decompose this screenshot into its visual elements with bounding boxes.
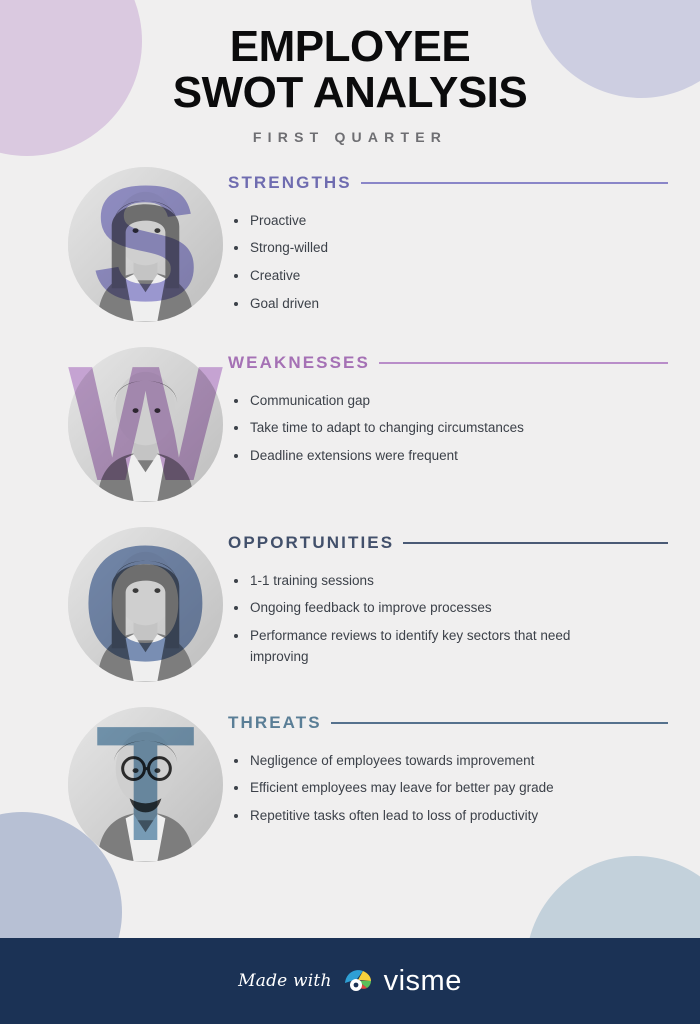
visme-mark-icon	[343, 966, 377, 997]
list-item: Negligence of employees towards improvem…	[228, 751, 603, 772]
list-item: Goal driven	[228, 294, 603, 315]
section-heading-row-weaknesses: WEAKNESSES	[228, 353, 668, 373]
list-item: Efficient employees may leave for better…	[228, 778, 603, 799]
list-item: Take time to adapt to changing circumsta…	[228, 418, 603, 439]
bullet-list-weaknesses: Communication gapTake time to adapt to c…	[228, 391, 668, 468]
list-item: Creative	[228, 266, 603, 287]
poster-header: EMPLOYEE SWOT ANALYSIS FIRST QUARTER	[0, 0, 700, 145]
section-heading-row-opportunities: OPPORTUNITIES	[228, 533, 668, 553]
swot-section-threats: TTHREATSNegligence of employees towards …	[0, 707, 700, 887]
title-line-2: SWOT ANALYSIS	[0, 70, 700, 116]
section-heading-row-strengths: STRENGTHS	[228, 173, 668, 193]
list-item: Communication gap	[228, 391, 603, 412]
section-body-opportunities: OPPORTUNITIES1-1 training sessionsOngoin…	[228, 527, 700, 676]
portrait-photo-strengths	[68, 167, 223, 322]
section-rule-weaknesses	[379, 362, 668, 364]
list-item: Ongoing feedback to improve processes	[228, 598, 603, 619]
list-item: Proactive	[228, 211, 603, 232]
bullet-list-strengths: ProactiveStrong-willedCreativeGoal drive…	[228, 211, 668, 316]
swot-section-opportunities: OOPPORTUNITIES1-1 training sessionsOngoi…	[0, 527, 700, 707]
list-item: Deadline extensions were frequent	[228, 446, 603, 467]
list-item: Performance reviews to identify key sect…	[228, 626, 603, 668]
section-heading-strengths: STRENGTHS	[228, 173, 352, 193]
title-line-1: EMPLOYEE	[0, 24, 700, 70]
list-item: Strong-willed	[228, 238, 603, 259]
section-heading-row-threats: THREATS	[228, 713, 668, 733]
swot-poster: EMPLOYEE SWOT ANALYSIS FIRST QUARTER SST…	[0, 0, 700, 1024]
poster-footer: Made with visme	[0, 938, 700, 1024]
list-item: Repetitive tasks often lead to loss of p…	[228, 806, 603, 827]
photo-wrap-strengths: S	[0, 167, 228, 347]
swot-section-strengths: SSTRENGTHSProactiveStrong-willedCreative…	[0, 167, 700, 347]
swot-section-weaknesses: WWEAKNESSESCommunication gapTake time to…	[0, 347, 700, 527]
portrait-photo-opportunities	[68, 527, 223, 682]
section-body-strengths: STRENGTHSProactiveStrong-willedCreativeG…	[228, 167, 700, 323]
bullet-list-threats: Negligence of employees towards improvem…	[228, 751, 668, 828]
photo-wrap-weaknesses: W	[0, 347, 228, 527]
page-subtitle: FIRST QUARTER	[0, 129, 700, 145]
section-heading-threats: THREATS	[228, 713, 322, 733]
section-heading-opportunities: OPPORTUNITIES	[228, 533, 394, 553]
section-body-threats: THREATSNegligence of employees towards i…	[228, 707, 700, 835]
swot-sections: SSTRENGTHSProactiveStrong-willedCreative…	[0, 167, 700, 887]
bullet-list-opportunities: 1-1 training sessionsOngoing feedback to…	[228, 571, 668, 669]
page-title: EMPLOYEE SWOT ANALYSIS	[0, 24, 700, 116]
visme-logo[interactable]: visme	[343, 965, 462, 998]
photo-wrap-threats: T	[0, 707, 228, 887]
visme-wordmark: visme	[384, 965, 462, 998]
section-rule-opportunities	[403, 542, 668, 544]
list-item: 1-1 training sessions	[228, 571, 603, 592]
portrait-photo-threats	[68, 707, 223, 862]
photo-wrap-opportunities: O	[0, 527, 228, 707]
made-with-label: Made with	[238, 971, 331, 991]
section-rule-strengths	[361, 182, 668, 184]
section-body-weaknesses: WEAKNESSESCommunication gapTake time to …	[228, 347, 700, 475]
section-heading-weaknesses: WEAKNESSES	[228, 353, 370, 373]
portrait-photo-weaknesses	[68, 347, 223, 502]
section-rule-threats	[331, 722, 668, 724]
